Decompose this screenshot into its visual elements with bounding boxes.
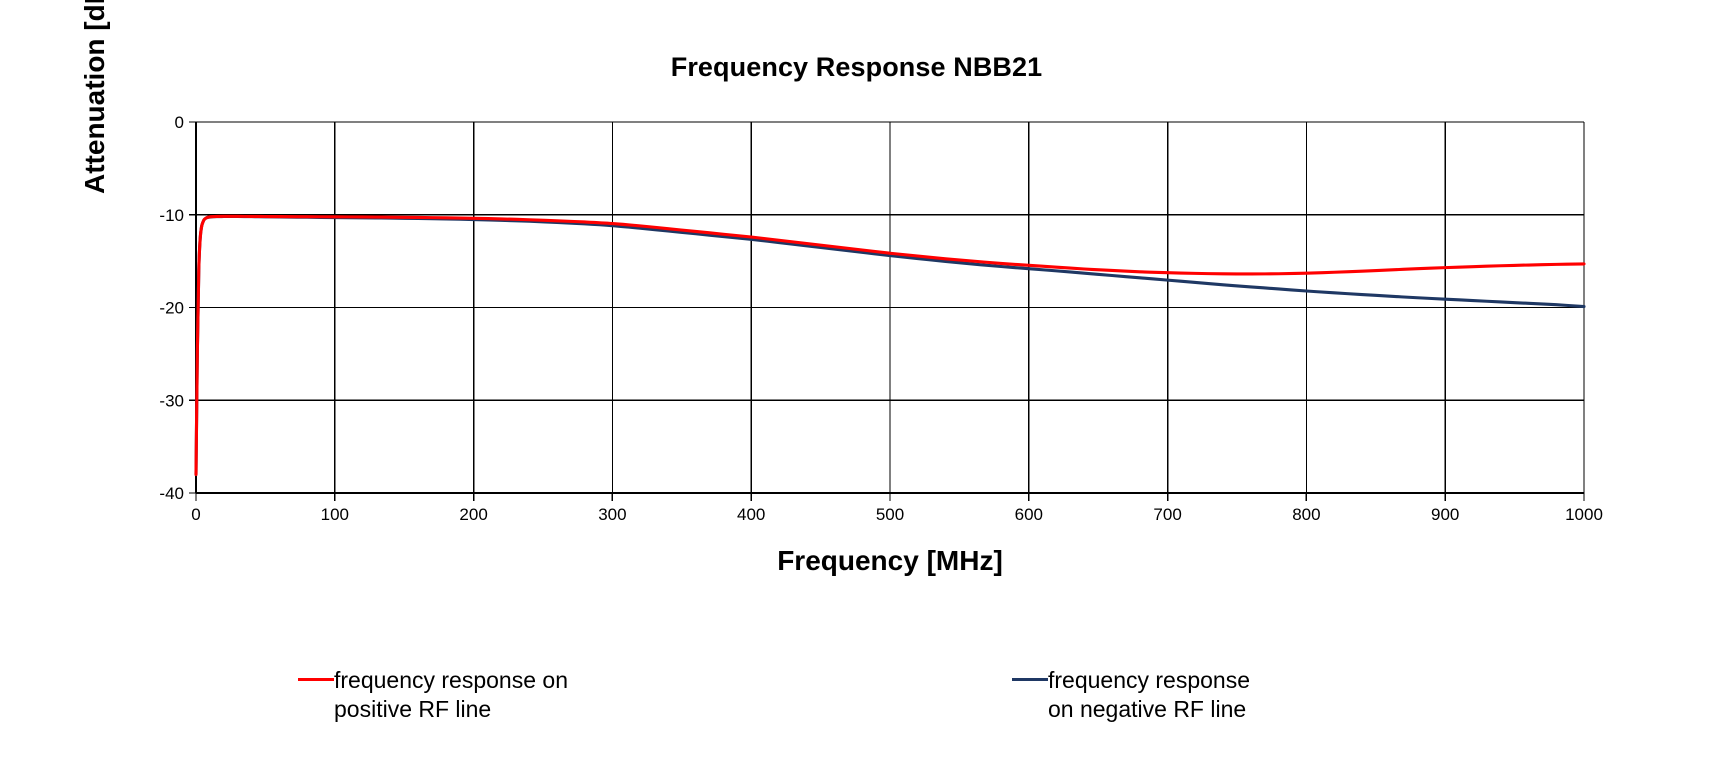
y-tick-label: -40 [159, 484, 184, 503]
grid-lines [196, 122, 1584, 493]
x-tick-label: 700 [1153, 505, 1181, 524]
x-tick-label: 900 [1431, 505, 1459, 524]
legend-swatch-red [298, 667, 334, 691]
x-tick-label: 600 [1015, 505, 1043, 524]
axis-ticks [189, 122, 1584, 501]
x-tick-label: 0 [191, 505, 200, 524]
x-tick-label: 800 [1292, 505, 1320, 524]
legend-label-positive-rf-line: frequency response on positive RF line [334, 666, 568, 724]
x-tick-label: 100 [321, 505, 349, 524]
x-tick-label: 200 [459, 505, 487, 524]
x-axis-title: Frequency [MHz] [196, 545, 1584, 577]
plot-area: 0-10-20-30-40010020030040050060070080090… [0, 0, 1713, 768]
legend-item-positive-rf-line: frequency response on positive RF line [298, 666, 568, 724]
x-tick-label: 300 [598, 505, 626, 524]
x-tick-label: 1000 [1565, 505, 1603, 524]
legend-label-negative-rf-line: frequency response on negative RF line [1048, 666, 1250, 724]
legend-swatch-navy [1012, 667, 1048, 691]
y-tick-label: -30 [159, 391, 184, 410]
axis-tick-labels: 0-10-20-30-40010020030040050060070080090… [159, 113, 1602, 524]
x-tick-label: 500 [876, 505, 904, 524]
legend-item-negative-rf-line: frequency response on negative RF line [1012, 666, 1250, 724]
y-tick-label: -10 [159, 206, 184, 225]
x-tick-label: 400 [737, 505, 765, 524]
chart-legend: frequency response on positive RF line f… [196, 666, 1584, 746]
y-tick-label: 0 [175, 113, 184, 132]
y-tick-label: -20 [159, 299, 184, 318]
frequency-response-chart: Frequency Response NBB21 Attenuation [dB… [0, 0, 1713, 768]
